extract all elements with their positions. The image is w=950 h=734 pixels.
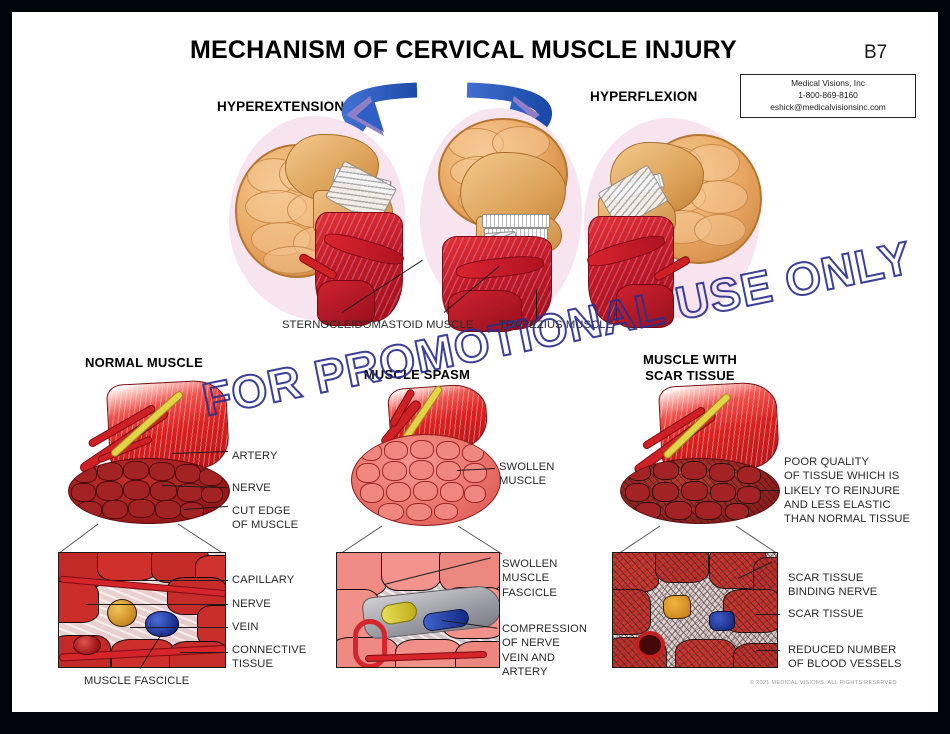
label-swollen-muscle: SWOLLEN MUSCLE <box>499 460 554 489</box>
leader-poor-quality <box>760 490 780 491</box>
label-poor-quality-tissue: POOR QUALITY OF TISSUE WHICH IS LIKELY T… <box>784 455 910 527</box>
leader-nerve-micro <box>86 604 228 605</box>
muscle-scar-illustration <box>612 384 792 534</box>
copyright-notice: © 2021 MEDICAL VISIONS. ALL RIGHTS RESER… <box>750 680 897 686</box>
label-artery: ARTERY <box>232 449 278 463</box>
leader-scar-tissue <box>756 614 780 615</box>
label-swollen-muscle-fascicle: SWOLLEN MUSCLE FASCICLE <box>502 557 557 600</box>
inset-normal-micro <box>58 552 226 668</box>
panel-heading-normal: NORMAL MUSCLE <box>64 355 224 371</box>
label-vein: VEIN <box>232 620 259 634</box>
leader-vein <box>130 627 228 628</box>
label-nerve: NERVE <box>232 481 271 495</box>
label-compression: COMPRESSION OF NERVE VEIN AND ARTERY <box>502 622 587 679</box>
leader-trapezius <box>536 290 537 320</box>
label-reduced-blood-vessels: REDUCED NUMBER OF BLOOD VESSELS <box>788 643 902 672</box>
label-scar-tissue-binding-nerve: SCAR TISSUE BINDING NERVE <box>788 571 877 600</box>
funnel-normal <box>52 522 242 556</box>
poster-frame: MECHANISM OF CERVICAL MUSCLE INJURY B7 M… <box>0 0 950 734</box>
head-hyperflexion <box>572 116 762 328</box>
label-muscle-fascicle: MUSCLE FASCICLE <box>84 674 189 688</box>
leader-capillary <box>142 580 228 581</box>
label-sternocleidomastoid: STERNOCLEIDOMASTOID MUSCLE <box>282 318 473 332</box>
leader-reduced-vessels <box>756 650 780 651</box>
label-connective-tissue: CONNECTIVE TISSUE <box>232 643 306 672</box>
leader-connective-tissue <box>180 652 228 653</box>
label-trapezius: TRAPEZIUS MUSCLE <box>499 318 613 332</box>
panel-heading-spasm: MUSCLE SPASM <box>337 367 497 383</box>
label-scar-tissue: SCAR TISSUE <box>788 607 864 621</box>
label-capillary: CAPILLARY <box>232 573 294 587</box>
panel-heading-scar: MUSCLE WITH SCAR TISSUE <box>610 352 770 384</box>
muscle-spasm-illustration <box>337 384 507 534</box>
inset-spasm-micro <box>336 552 500 668</box>
label-nerve-micro: NERVE <box>232 597 271 611</box>
poster-sheet: MECHANISM OF CERVICAL MUSCLE INJURY B7 M… <box>12 12 938 712</box>
head-neutral <box>420 108 590 330</box>
head-hyperextension <box>227 112 412 327</box>
